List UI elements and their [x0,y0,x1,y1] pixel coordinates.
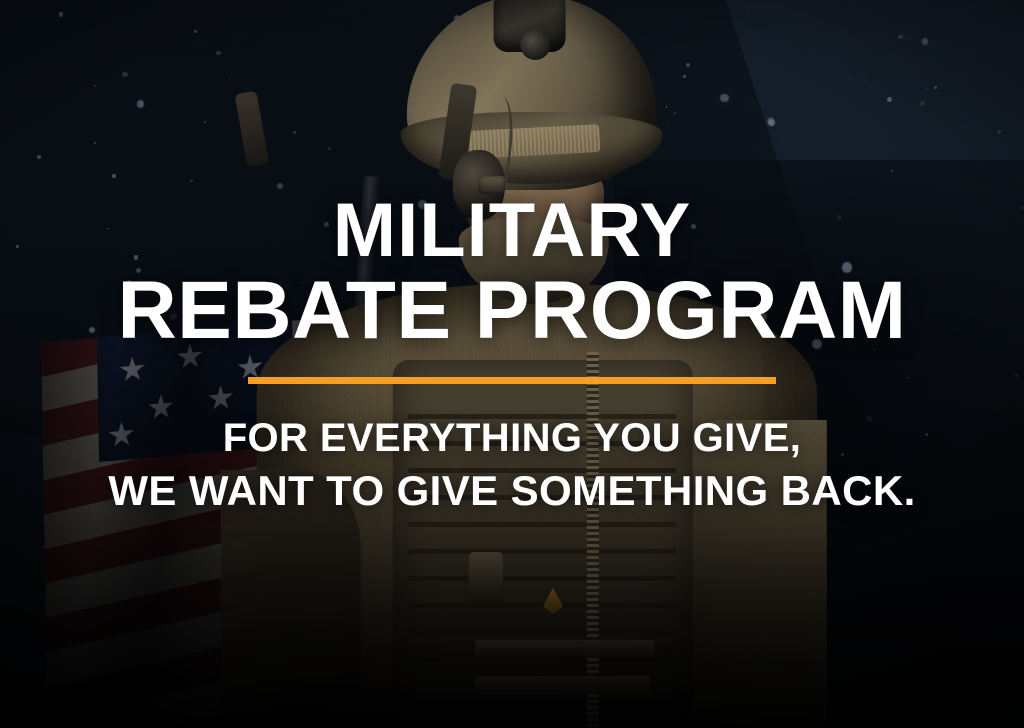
headline-line-2: REBATE PROGRAM [117,273,906,349]
banner-content: MILITARY REBATE PROGRAM FOR EVERYTHING Y… [0,0,1024,728]
headline-line-1: MILITARY [117,196,906,267]
orange-divider [248,377,776,384]
subheadline-line-2: WE WANT TO GIVE SOMETHING BACK. [108,467,915,514]
military-rebate-banner: MILITARY REBATE PROGRAM FOR EVERYTHING Y… [0,0,1024,728]
banner-subheadline: FOR EVERYTHING YOU GIVE, WE WANT TO GIVE… [108,416,915,514]
banner-headline: MILITARY REBATE PROGRAM [117,0,906,349]
subheadline-line-1: FOR EVERYTHING YOU GIVE, [108,416,915,461]
